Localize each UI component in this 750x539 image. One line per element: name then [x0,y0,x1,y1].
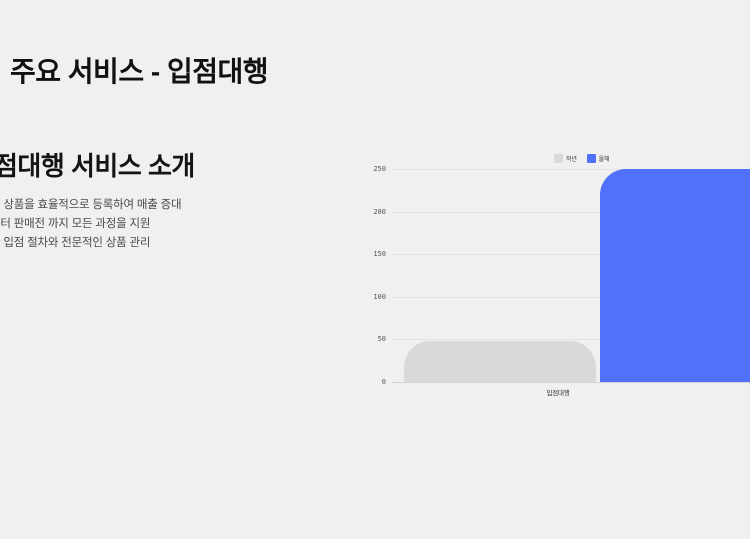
y-axis-tick-label: 150 [373,250,386,258]
bar-this-year[interactable] [600,169,750,382]
section-heading: 점대행 서비스 소개 [0,146,195,183]
legend-label: 올해 [599,154,610,163]
legend-label: 작년 [566,154,577,163]
legend-item-this-year[interactable]: 올해 [587,154,610,163]
chart-bars [392,169,750,382]
x-axis-tick-label: 입점대행 [546,387,569,397]
legend-swatch-icon [554,154,563,163]
chart-legend: 작년 올해 [554,154,609,163]
legend-swatch-icon [587,154,596,163]
list-item: 한 상품을 효율적으로 등록하여 매출 증대 [0,196,250,215]
page-title: 주요 서비스 - 입점대행 [10,50,268,90]
list-item: 한 입점 절차와 전문적인 상품 관리 [0,234,250,253]
bullet-list: 한 상품을 효율적으로 등록하여 매출 증대 부터 판매전 까지 모든 과정을 … [0,196,250,253]
y-axis-tick-label: 100 [373,293,386,301]
gridline-0: 0 [392,382,750,383]
y-axis-tick-label: 250 [373,165,386,173]
y-axis-tick-label: 200 [373,208,386,216]
bar-chart: 작년 올해 250 200 150 100 50 [362,140,750,410]
bar-prev-year[interactable] [404,341,596,382]
y-axis-tick-label: 50 [378,335,386,343]
slide-canvas: 주요 서비스 - 입점대행 점대행 서비스 소개 한 상품을 효율적으로 등록하… [0,0,750,539]
list-item: 부터 판매전 까지 모든 과정을 지원 [0,215,250,234]
legend-item-prev-year[interactable]: 작년 [554,154,577,163]
y-axis-tick-label: 0 [382,378,386,386]
chart-plot-area: 250 200 150 100 50 0 [392,169,750,382]
